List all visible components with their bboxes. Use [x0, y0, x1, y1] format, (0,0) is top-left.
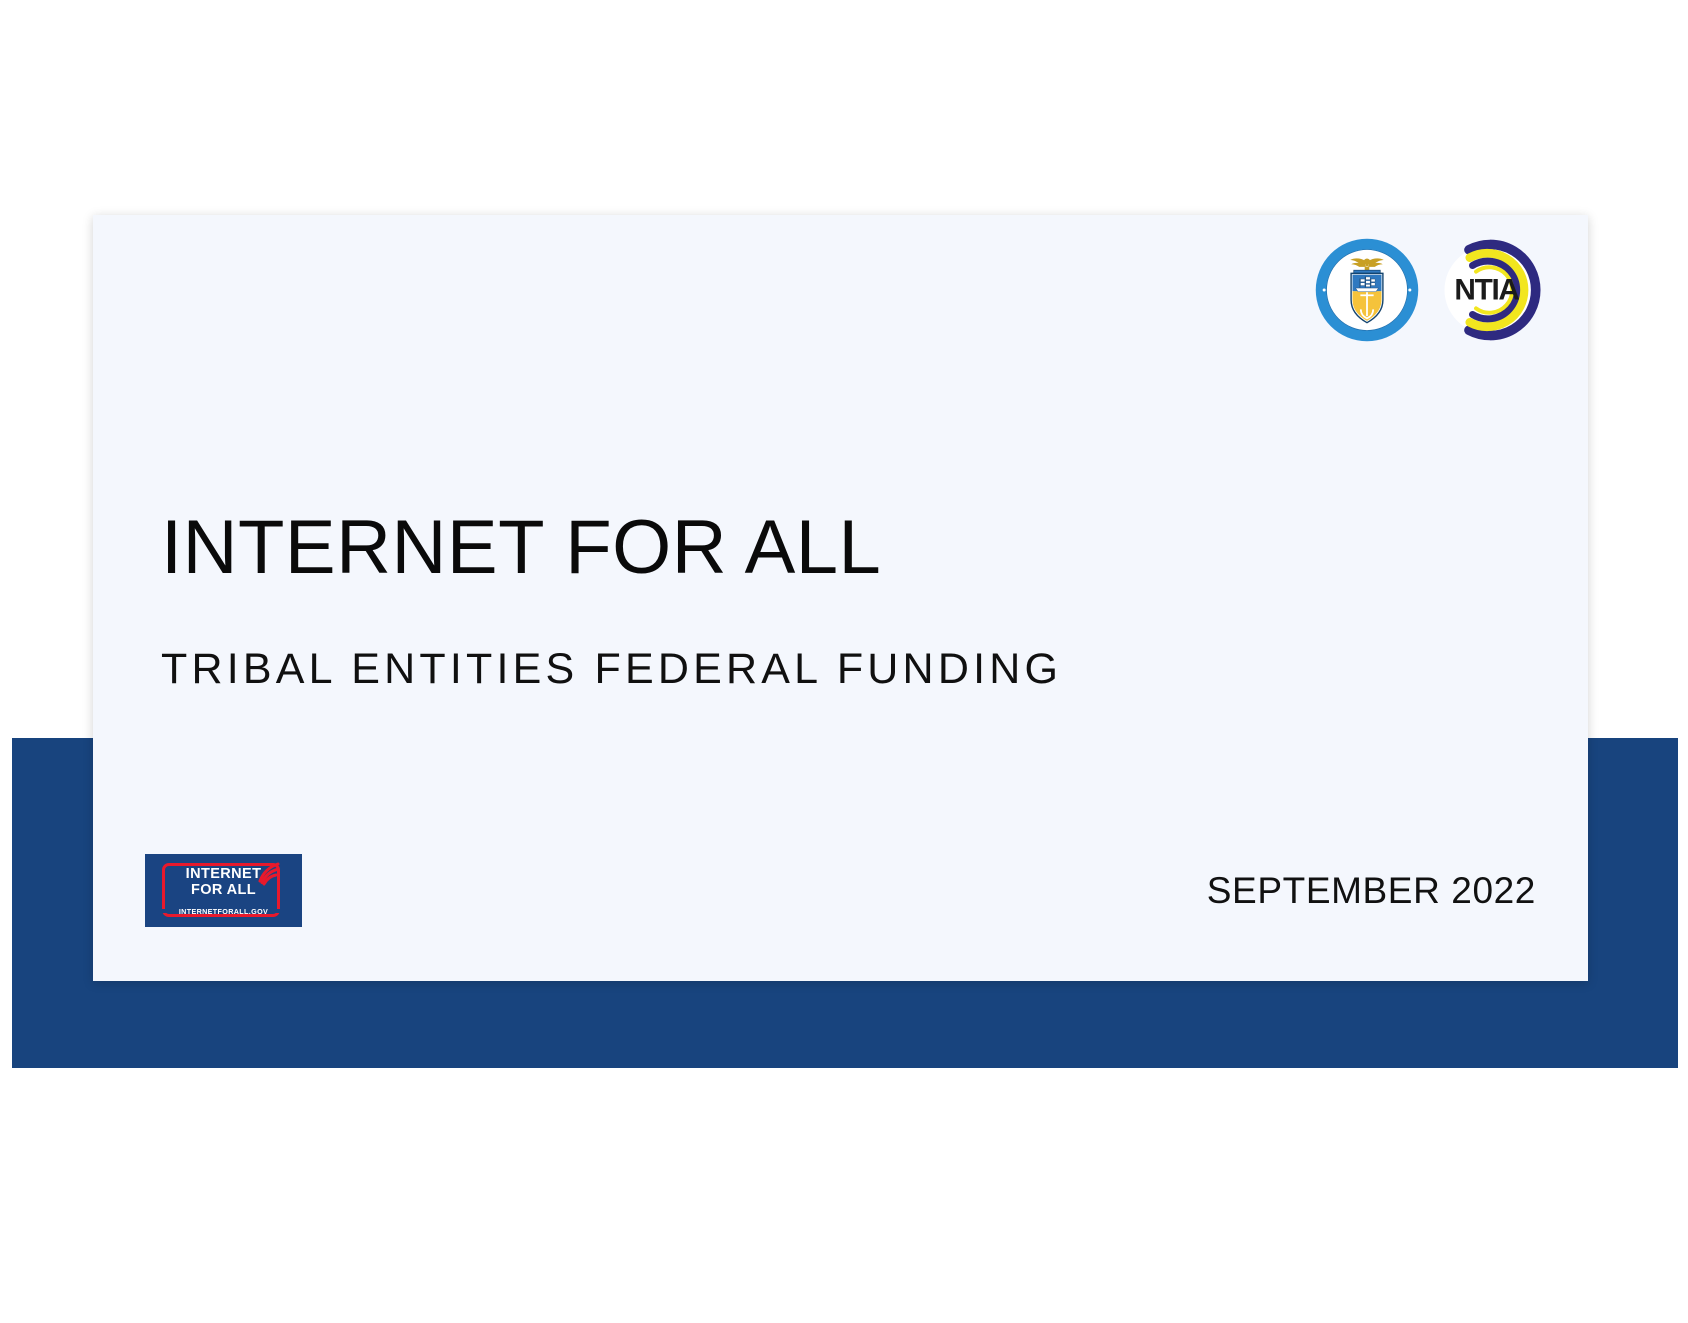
badge-wordmark: INTERNET FOR ALL: [145, 867, 302, 898]
page-subtitle: TRIBAL ENTITIES FEDERAL FUNDING: [161, 648, 1441, 691]
logo-cluster: DEPARTMENT OF COMMERCE UNITED STATES OF …: [1314, 237, 1546, 343]
badge-line-1: INTERNET: [145, 867, 302, 883]
slide-stage: DEPARTMENT OF COMMERCE UNITED STATES OF …: [0, 0, 1688, 1323]
page-title: INTERNET FOR ALL: [161, 510, 1441, 586]
slide-date: SEPTEMBER 2022: [1207, 870, 1536, 912]
title-card: DEPARTMENT OF COMMERCE UNITED STATES OF …: [93, 215, 1588, 981]
footer-row: INTERNET FOR ALL INTERNETFORALL.GOV SEPT…: [145, 854, 1536, 927]
badge-url: INTERNETFORALL.GOV: [145, 907, 302, 916]
department-of-commerce-seal-icon: DEPARTMENT OF COMMERCE UNITED STATES OF …: [1314, 237, 1420, 343]
svg-text:NTIA: NTIA: [1454, 274, 1519, 307]
badge-line-2: FOR ALL: [145, 883, 302, 899]
ntia-logo-icon: NTIA: [1434, 238, 1546, 342]
headline-block: INTERNET FOR ALL TRIBAL ENTITIES FEDERAL…: [161, 510, 1441, 691]
internet-for-all-badge: INTERNET FOR ALL INTERNETFORALL.GOV: [145, 854, 302, 927]
